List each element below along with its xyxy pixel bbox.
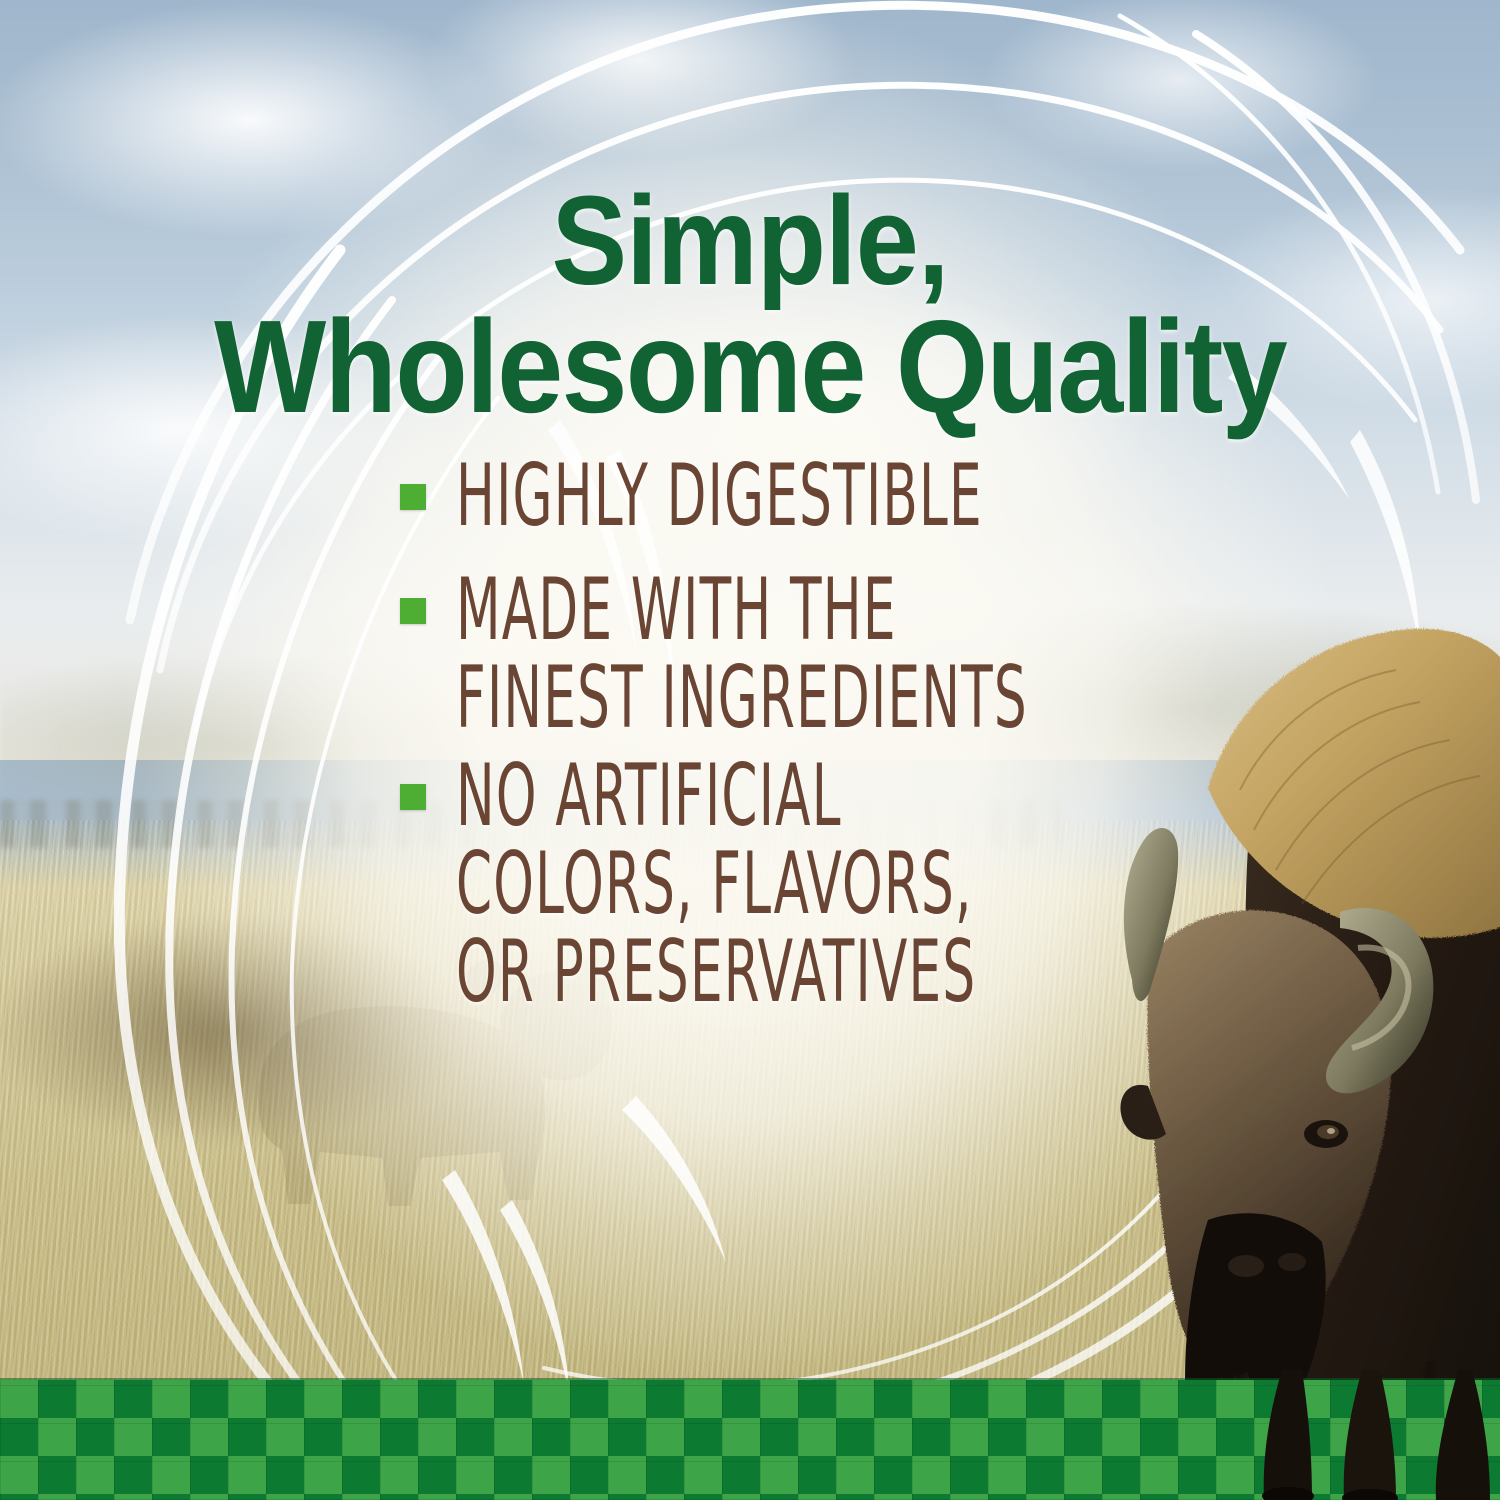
page-title: Simple, Wholesome Quality xyxy=(75,180,1425,430)
bullet-line: Highly Digestible xyxy=(456,452,983,540)
list-item: No Artificial Colors, Flavors, or Preser… xyxy=(400,752,1090,968)
bullet-text: Made with the Finest Ingredients xyxy=(456,566,1028,742)
bullet-text: Highly Digestible xyxy=(456,452,983,540)
feature-bullet-list: Highly Digestible Made with the Finest I… xyxy=(400,452,1090,1011)
list-item: Highly Digestible xyxy=(400,452,1090,524)
product-feature-banner: Simple, Wholesome Quality Highly Digesti… xyxy=(0,0,1500,1500)
bullet-text: No Artificial Colors, Flavors, or Preser… xyxy=(456,752,976,1016)
list-item: Made with the Finest Ingredients xyxy=(400,566,1090,710)
bullet-line: Finest Ingredients xyxy=(456,654,1028,742)
square-bullet-icon xyxy=(400,784,426,810)
bullet-line: Colors, Flavors, xyxy=(456,840,976,928)
bison-legs-over-footer xyxy=(1240,1370,1500,1500)
bullet-line: Made with the xyxy=(456,566,1028,654)
bullet-line: No Artificial xyxy=(456,752,976,840)
bison-photograph xyxy=(1040,520,1500,1500)
headline-line-2: Wholesome Quality xyxy=(75,303,1425,431)
headline-line-1: Simple, xyxy=(551,170,948,311)
square-bullet-icon xyxy=(400,484,426,510)
bullet-line: or Preservatives xyxy=(456,928,976,1016)
square-bullet-icon xyxy=(400,598,426,624)
